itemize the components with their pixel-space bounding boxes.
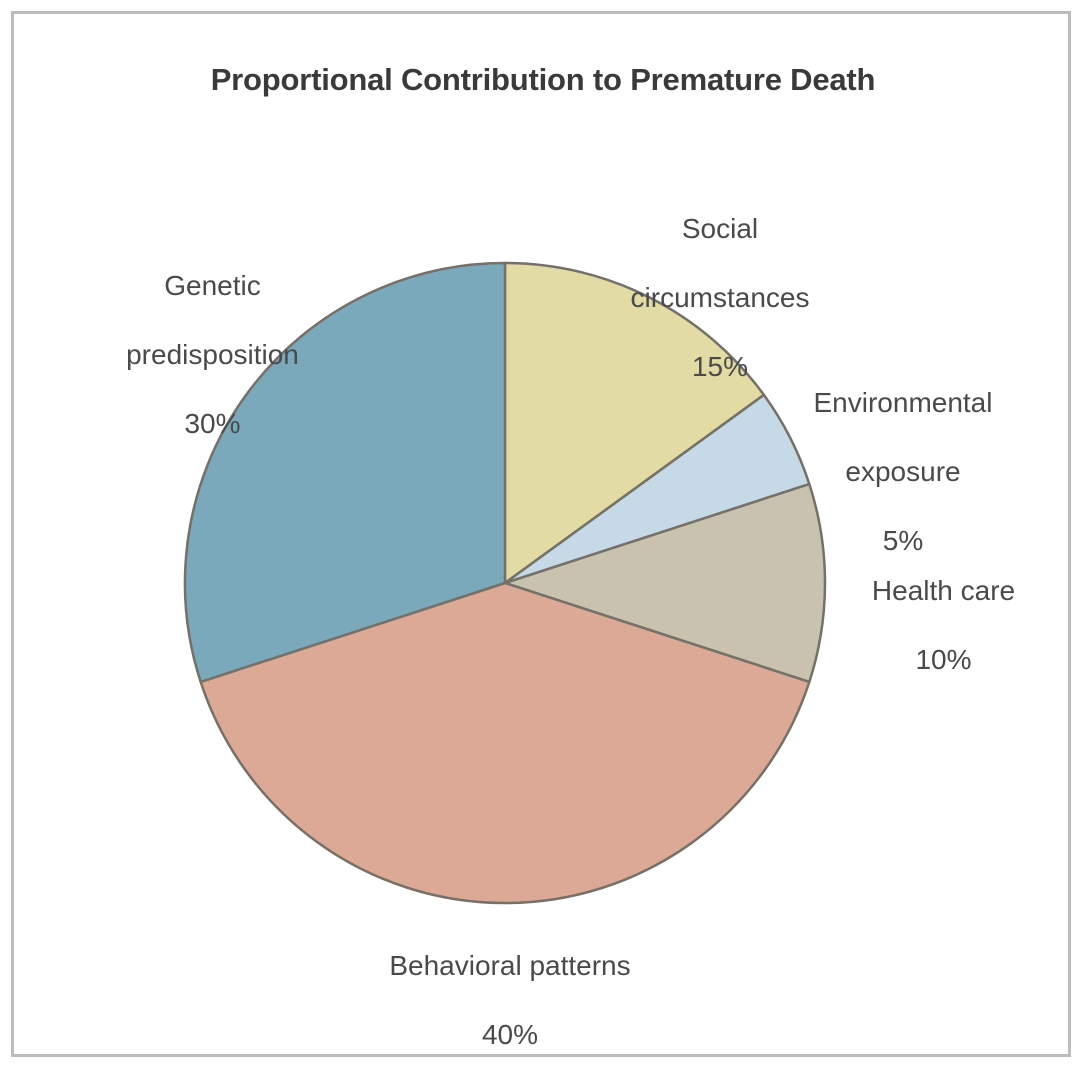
slice-label-line1: Behavioral patterns [300, 949, 720, 983]
slice-label-line1: Social [560, 212, 880, 246]
slice-label-behavioral-patterns: Behavioral patterns 40% [300, 915, 720, 1087]
slice-value: 10% [826, 643, 1061, 677]
figure-root: Proportional Contribution to Premature D… [0, 0, 1086, 1086]
slice-value: 40% [300, 1018, 720, 1052]
slice-label-genetic-predisposition: Genetic predisposition 30% [60, 235, 365, 476]
slice-value: 30% [60, 407, 365, 441]
slice-label-line1: Health care [826, 574, 1061, 608]
slice-label-line1: Genetic [60, 269, 365, 303]
slice-label-health-care: Health care 10% [826, 540, 1061, 712]
slice-label-line1: Environmental [768, 386, 1038, 420]
slice-label-line2: circumstances [560, 281, 880, 315]
slice-label-line2: predisposition [60, 338, 365, 372]
slice-label-line2: exposure [768, 455, 1038, 489]
